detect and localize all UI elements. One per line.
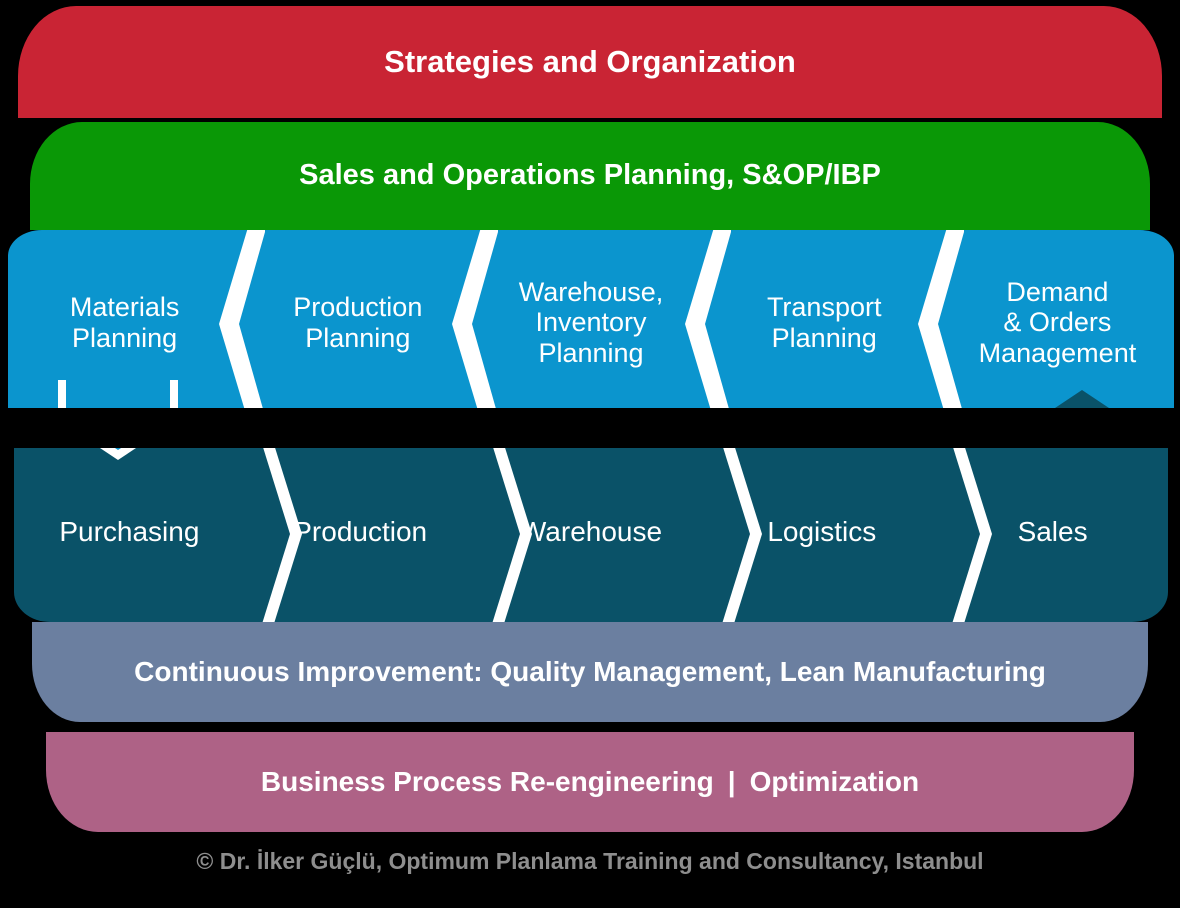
execution-cell-logistics[interactable]: Logistics [706,442,937,622]
band-bpr-right-label: Optimization [750,766,920,797]
band-sales-operations-planning: Sales and Operations Planning, S&OP/IBP [30,122,1150,230]
planning-cell-warehouse-inventory-planning-label: Warehouse,InventoryPlanning [519,277,664,368]
execution-cell-sales-label: Sales [1018,516,1088,547]
row-separator [0,408,1180,448]
band-continuous-improvement: Continuous Improvement: Quality Manageme… [32,622,1148,722]
band-continuous-improvement-label: Continuous Improvement: Quality Manageme… [134,656,1046,688]
band-bpr-divider: | [714,766,750,798]
band-sop-label: Sales and Operations Planning, S&OP/IBP [299,159,881,192]
planning-row-cells: MaterialsPlanning ProductionPlanning War… [8,230,1174,415]
diagram-canvas: Strategies and Organization Sales and Op… [0,0,1180,908]
band-strategies-label: Strategies and Organization [384,44,796,80]
band-bpr-left-label: Business Process Re-engineering [261,766,714,797]
planning-cell-production-planning[interactable]: ProductionPlanning [241,230,474,415]
copyright-footer: © Dr. İlker Güçlü, Optimum Planlama Trai… [0,848,1180,875]
planning-row: MaterialsPlanning ProductionPlanning War… [8,230,1174,415]
planning-cell-transport-planning[interactable]: TransportPlanning [708,230,941,415]
execution-cell-production[interactable]: Production [245,442,476,622]
execution-cell-production-label: Production [293,516,427,547]
execution-row: Purchasing Production Warehouse Logistic… [14,442,1168,622]
band-business-process-reengineering: Business Process Re-engineering|Optimiza… [46,732,1134,832]
execution-cell-warehouse-label: Warehouse [520,516,662,547]
execution-cell-warehouse[interactable]: Warehouse [476,442,707,622]
execution-cell-logistics-label: Logistics [767,516,876,547]
band-bpr-label: Business Process Re-engineering|Optimiza… [261,766,919,798]
planning-cell-warehouse-inventory-planning[interactable]: Warehouse,InventoryPlanning [474,230,707,415]
planning-cell-transport-planning-label: TransportPlanning [767,292,882,352]
execution-cell-purchasing-label: Purchasing [59,516,199,547]
planning-cell-demand-orders-management-label: Demand& OrdersManagement [979,277,1137,368]
planning-cell-production-planning-label: ProductionPlanning [293,292,422,352]
planning-cell-materials-planning-label: MaterialsPlanning [70,292,180,352]
band-strategies: Strategies and Organization [18,6,1162,118]
execution-row-cells: Purchasing Production Warehouse Logistic… [14,442,1168,622]
process-rows-container: Optimum Planlama MaterialsPlanning Produ… [0,230,1180,626]
